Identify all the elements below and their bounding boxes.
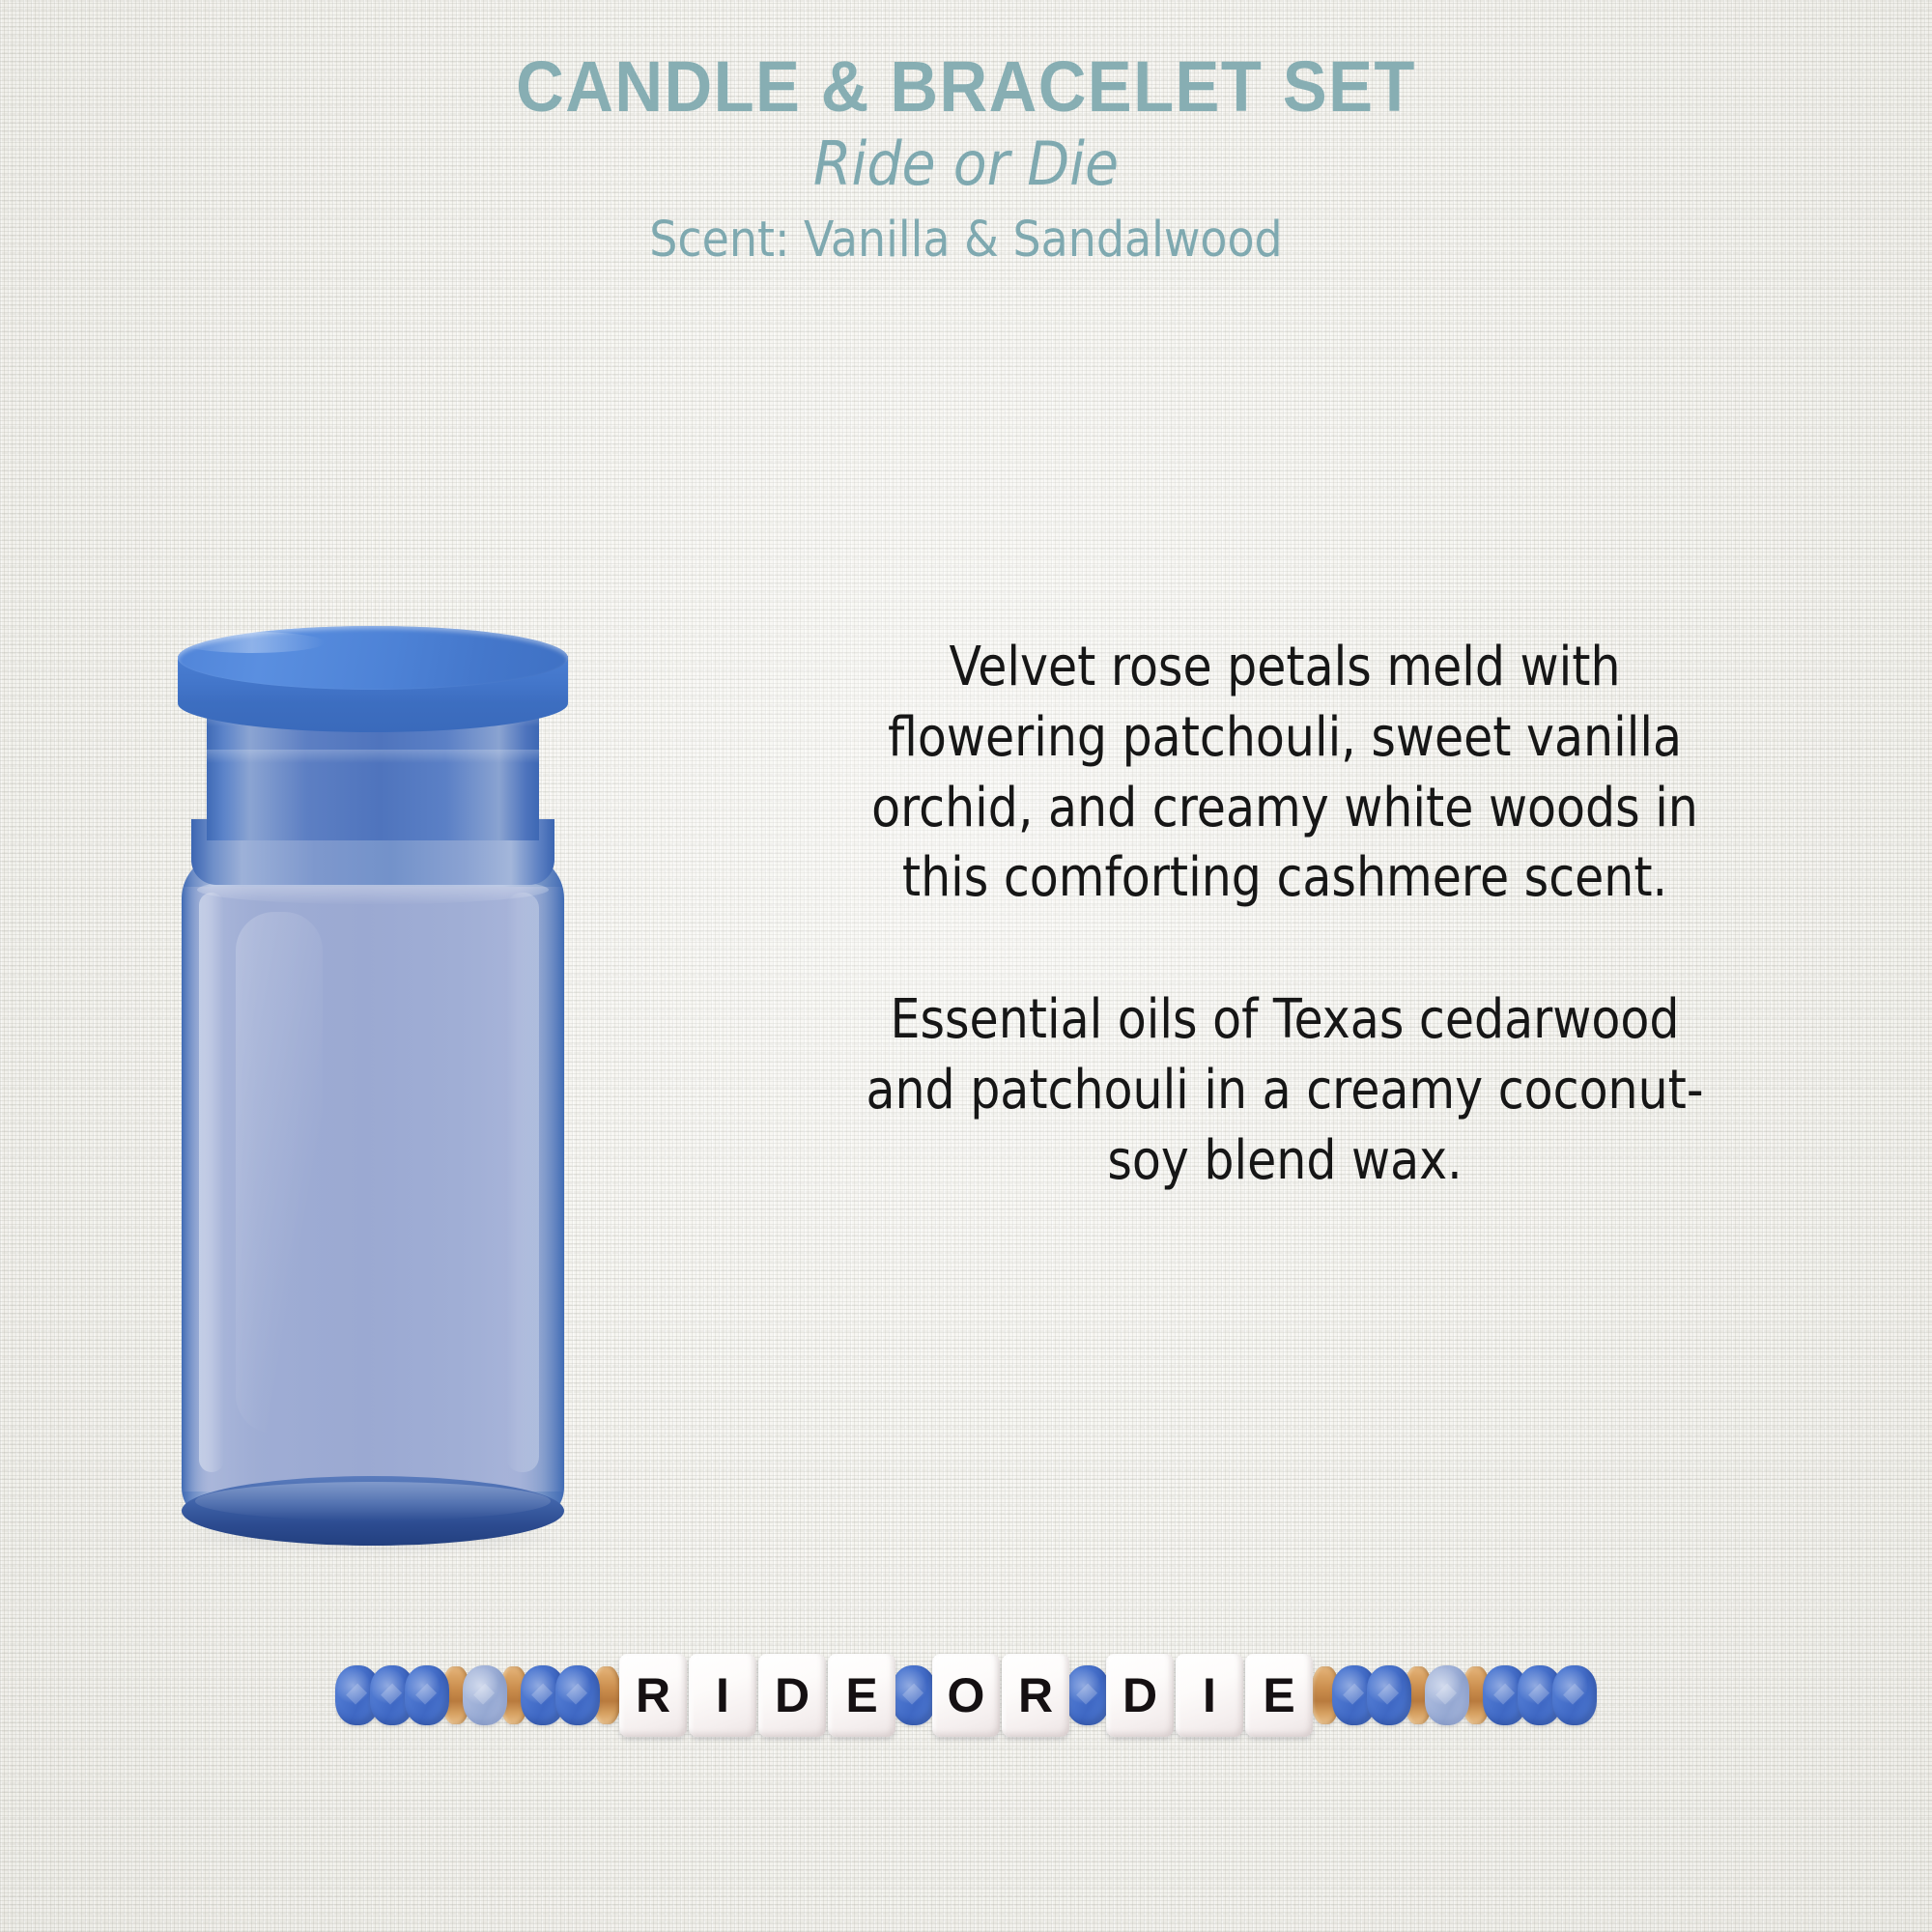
letter-bead-r: R [1002, 1654, 1069, 1737]
bracelet-image: RIDEORDIE [0, 1633, 1932, 1758]
jar-base [182, 1476, 564, 1546]
page-title: CANDLE & BRACELET SET [68, 50, 1864, 125]
description-paragraph-1: Velvet rose petals meld with flowering p… [854, 633, 1717, 914]
letter-bead-e: E [1245, 1654, 1313, 1737]
blue-faceted-bead [1552, 1665, 1597, 1725]
letter-bead-d: D [758, 1654, 826, 1737]
letter-bead-i: I [689, 1654, 756, 1737]
blue-faceted-bead [1367, 1665, 1411, 1725]
product-description: Velvet rose petals meld with flowering p… [854, 633, 1717, 1197]
blue-faceted-bead [555, 1665, 600, 1725]
jar-glass-body [182, 854, 564, 1520]
letter-bead-o: O [932, 1654, 1000, 1737]
blue-faceted-bead [892, 1665, 936, 1725]
letter-bead-d: D [1106, 1654, 1174, 1737]
product-subtitle: Ride or Die [77, 128, 1855, 199]
jar-lid-top [178, 626, 568, 690]
periwinkle-faceted-bead [1425, 1665, 1469, 1725]
glass-highlight-left [199, 893, 224, 1472]
glass-sheen [236, 912, 323, 1434]
blue-faceted-bead [1065, 1665, 1110, 1725]
letter-bead-i: I [1176, 1654, 1243, 1737]
scent-line: Scent: Vanilla & Sandalwood [97, 211, 1835, 270]
letter-bead-e: E [828, 1654, 895, 1737]
description-paragraph-2: Essential oils of Texas cedarwood and pa… [854, 985, 1717, 1196]
letter-bead-r: R [619, 1654, 687, 1737]
candle-jar-image [170, 626, 576, 1555]
glass-highlight-right [506, 893, 539, 1472]
bracelet-strand: RIDEORDIE [340, 1654, 1592, 1737]
header: CANDLE & BRACELET SET Ride or Die Scent:… [0, 50, 1932, 270]
periwinkle-faceted-bead [463, 1665, 507, 1725]
product-card: CANDLE & BRACELET SET Ride or Die Scent:… [0, 0, 1932, 1932]
blue-faceted-bead [405, 1665, 449, 1725]
